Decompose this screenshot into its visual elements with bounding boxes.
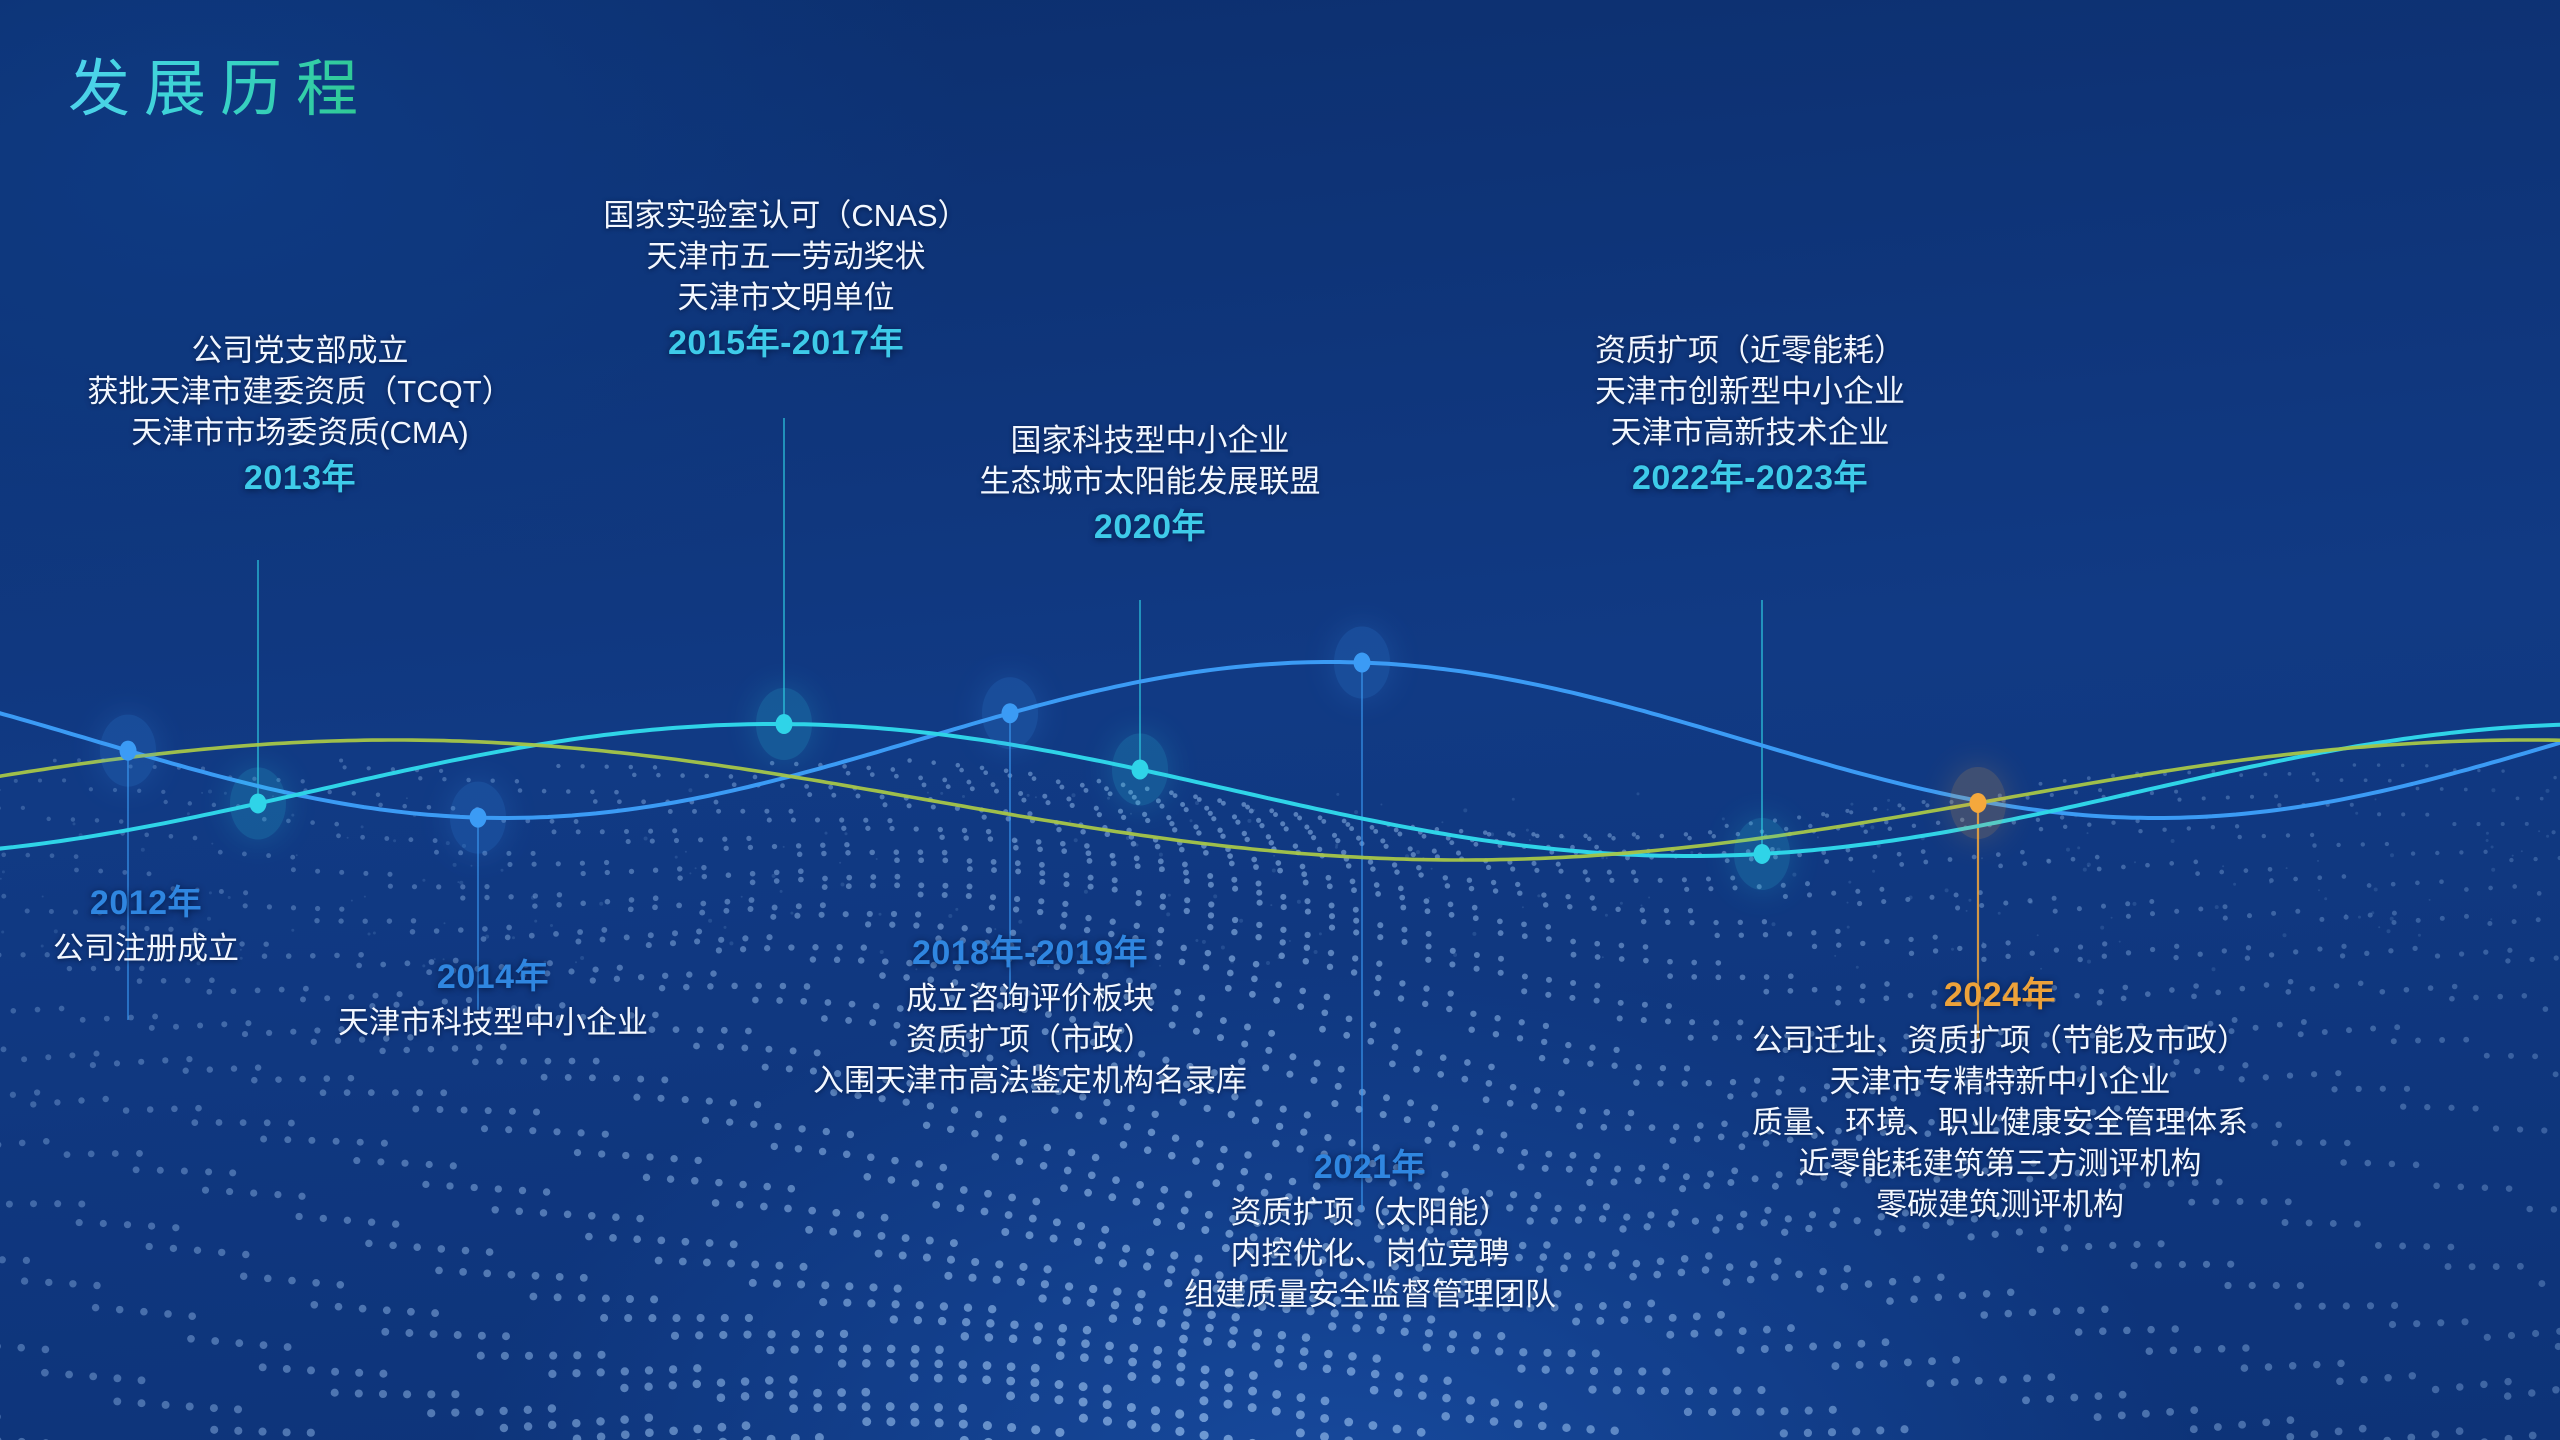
- milestone-2018-2019[interactable]: 2018年-2019年 成立咨询评价板块 资质扩项（市政） 入围天津市高法鉴定机…: [700, 928, 1360, 1101]
- milestone-line: 国家科技型中小企业: [840, 420, 1460, 461]
- milestone-line: 成立咨询评价板块: [700, 978, 1360, 1019]
- milestone-2021[interactable]: 2021年 资质扩项（太阳能） 内控优化、岗位竞聘 组建质量安全监督管理团队: [1060, 1142, 1680, 1315]
- milestone-line: 内控优化、岗位竞聘: [1060, 1233, 1680, 1274]
- milestone-line: 入围天津市高法鉴定机构名录库: [700, 1060, 1360, 1101]
- milestone-line: 生态城市太阳能发展联盟: [840, 461, 1460, 502]
- page-title: 发展历程: [68, 38, 372, 128]
- milestone-2020[interactable]: 国家科技型中小企业 生态城市太阳能发展联盟 2020年: [840, 420, 1460, 552]
- milestone-year: 2018年-2019年: [700, 928, 1360, 978]
- milestone-line: 公司迁址、资质扩项（节能及市政）: [1600, 1020, 2400, 1061]
- milestone-line: 资质扩项（市政）: [700, 1019, 1360, 1060]
- milestone-year: 2013年: [0, 453, 610, 503]
- milestone-line: 天津市专精特新中小企业: [1600, 1061, 2400, 1102]
- milestone-line: 国家实验室认可（CNAS）: [436, 195, 1136, 236]
- milestone-year: 2021年: [1060, 1142, 1680, 1192]
- milestone-year: 2014年: [228, 952, 758, 1002]
- milestone-year: 2015年-2017年: [436, 318, 1136, 368]
- milestone-line: 组建质量安全监督管理团队: [1060, 1274, 1680, 1315]
- milestone-line: 天津市创新型中小企业: [1470, 371, 2030, 412]
- milestone-line: 天津市文明单位: [436, 277, 1136, 318]
- milestone-2022-2023[interactable]: 资质扩项（近零能耗） 天津市创新型中小企业 天津市高新技术企业 2022年-20…: [1470, 330, 2030, 503]
- milestone-2024[interactable]: 2024年 公司迁址、资质扩项（节能及市政） 天津市专精特新中小企业 质量、环境…: [1600, 970, 2400, 1225]
- milestone-line: 获批天津市建委资质（TCQT）: [0, 371, 610, 412]
- milestone-line: 资质扩项（太阳能）: [1060, 1192, 1680, 1233]
- milestone-line: 天津市五一劳动奖状: [436, 236, 1136, 277]
- milestone-year: 2012年: [0, 878, 376, 928]
- timeline-canvas: 发展历程 公司党支部成立 获批天津市建委资质（TCQT） 天津市市场委资质(CM…: [0, 0, 2560, 1440]
- milestone-year: 2022年-2023年: [1470, 453, 2030, 503]
- milestone-line: 天津市高新技术企业: [1470, 412, 2030, 453]
- milestone-2015-2017[interactable]: 国家实验室认可（CNAS） 天津市五一劳动奖状 天津市文明单位 2015年-20…: [436, 195, 1136, 368]
- milestone-line: 零碳建筑测评机构: [1600, 1184, 2400, 1225]
- milestone-line: 天津市科技型中小企业: [228, 1002, 758, 1043]
- milestone-line: 近零能耗建筑第三方测评机构: [1600, 1143, 2400, 1184]
- milestone-year: 2024年: [1600, 970, 2400, 1020]
- milestone-year: 2020年: [840, 502, 1460, 552]
- milestone-2014[interactable]: 2014年 天津市科技型中小企业: [228, 952, 758, 1043]
- milestone-line: 资质扩项（近零能耗）: [1470, 330, 2030, 371]
- milestone-line: 天津市市场委资质(CMA): [0, 412, 610, 453]
- milestone-line: 质量、环境、职业健康安全管理体系: [1600, 1102, 2400, 1143]
